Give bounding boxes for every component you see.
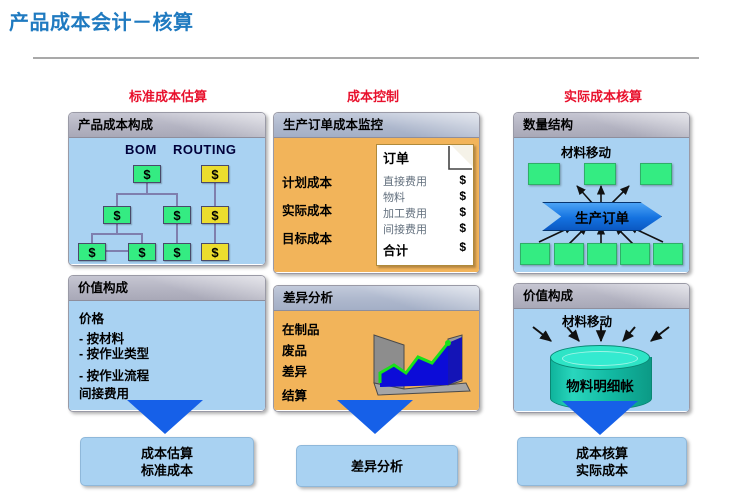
title-divider xyxy=(33,57,699,59)
material-node xyxy=(640,163,672,185)
variance-line: 结算 xyxy=(282,385,307,404)
order-amount: $ xyxy=(459,173,466,187)
material-movement-label-2: 材料移动 xyxy=(562,311,612,330)
bom-connector xyxy=(91,233,143,235)
material-node xyxy=(620,243,650,265)
cost-label-target: 目标成本 xyxy=(282,228,332,247)
panel-quantity-structure[interactable]: 数量结构 材料移动 xyxy=(513,112,690,274)
flow-arrow-1 xyxy=(127,400,203,434)
material-node xyxy=(587,243,617,265)
result-text: 成本估算 标准成本 xyxy=(141,445,193,479)
cylinder-top xyxy=(550,345,650,370)
column-header-3: 实际成本核算 xyxy=(498,88,708,106)
page-title: 产品成本会计－核算 xyxy=(9,6,194,35)
bom-label: BOM xyxy=(125,142,157,157)
area-chart-3d-icon xyxy=(370,329,476,403)
routing-connector xyxy=(214,183,216,207)
panel-header-value-structure-2: 价值构成 xyxy=(514,284,689,309)
panel-header-variance-analysis: 差异分析 xyxy=(274,286,479,311)
routing-label: ROUTING xyxy=(173,142,236,157)
value-line: - 按作业流程 xyxy=(79,365,149,384)
production-order-chevron[interactable]: 生产订单 xyxy=(542,202,662,231)
result-text: 成本核算 实际成本 xyxy=(576,445,628,479)
panel-header-value-structure-1: 价值构成 xyxy=(69,276,265,301)
bom-connector xyxy=(116,193,178,195)
material-ledger-label: 物料明细帐 xyxy=(550,375,650,395)
production-order-label: 生产订单 xyxy=(575,207,629,227)
material-movement-label-1: 材料移动 xyxy=(561,142,611,161)
panel-body-product-cost-structure: BOM ROUTING $ $ $ $ $ $ $ $ xyxy=(69,138,265,264)
value-line: - 按作业类型 xyxy=(79,343,149,362)
variance-line: 差异 xyxy=(282,361,307,380)
column-header-1: 标准成本估算 xyxy=(63,88,273,106)
bom-node: $ xyxy=(163,206,191,224)
order-document-title: 订单 xyxy=(383,148,409,167)
order-amount-total: $ xyxy=(459,240,466,254)
bom-node: $ xyxy=(103,206,131,224)
flow-arrow-2 xyxy=(337,400,413,434)
order-document[interactable]: 订单 直接费用 物料 加工费用 间接费用 合计 $ $ $ $ $ xyxy=(376,144,474,266)
result-box-actual-costing[interactable]: 成本核算 实际成本 xyxy=(517,437,687,486)
routing-connector xyxy=(214,224,216,244)
order-row-label: 加工费用 xyxy=(383,205,427,221)
panel-header-quantity-structure: 数量结构 xyxy=(514,113,689,138)
order-amount: $ xyxy=(459,221,466,235)
variance-line: 废品 xyxy=(282,340,307,359)
order-amount: $ xyxy=(459,189,466,203)
slide-canvas: 产品成本会计－核算 标准成本估算 产品成本构成 BOM ROUTING $ xyxy=(0,0,736,497)
material-node xyxy=(653,243,683,265)
material-node xyxy=(520,243,550,265)
order-row-label: 物料 xyxy=(383,189,405,205)
cost-label-actual: 实际成本 xyxy=(282,200,332,219)
order-row-label: 间接费用 xyxy=(383,221,427,237)
order-total-label: 合计 xyxy=(383,240,408,259)
panel-body-value-structure-2: 材料移动 物料明细帐 xyxy=(514,309,689,411)
value-line: 间接费用 xyxy=(79,383,129,402)
value-line: 价格 xyxy=(79,308,104,327)
column-standard-cost-estimate: 标准成本估算 xyxy=(63,88,273,106)
column-cost-control: 成本控制 xyxy=(268,88,478,106)
panel-variance-analysis[interactable]: 差异分析 在制品 废品 差异 结算 xyxy=(273,285,480,412)
variance-line: 在制品 xyxy=(282,319,320,338)
bom-node: $ xyxy=(128,243,156,261)
panel-body-production-order-cost-monitor: 计划成本 实际成本 目标成本 订单 直接费用 物料 加工费用 间接费用 合计 $… xyxy=(274,138,479,272)
order-amount: $ xyxy=(459,205,466,219)
page-fold-icon xyxy=(451,145,473,167)
panel-value-structure-2[interactable]: 价值构成 材料移动 物料明细帐 xyxy=(513,283,690,413)
bom-connector xyxy=(141,233,143,243)
material-node xyxy=(584,163,616,185)
routing-node: $ xyxy=(201,206,229,224)
panel-header-production-order-cost-monitor: 生产订单成本监控 xyxy=(274,113,479,138)
cylinder-top-inner-ring xyxy=(562,351,638,366)
panel-body-variance-analysis: 在制品 废品 差异 结算 xyxy=(274,311,479,410)
column-actual-costing: 实际成本核算 xyxy=(498,88,708,106)
bom-connector xyxy=(116,193,118,206)
panel-production-order-cost-monitor[interactable]: 生产订单成本监控 计划成本 实际成本 目标成本 订单 直接费用 物料 加工费用 … xyxy=(273,112,480,274)
panel-value-structure-1[interactable]: 价值构成 价格 - 按材料 - 按作业类型 - 按作业流程 间接费用 xyxy=(68,275,266,412)
material-node xyxy=(528,163,560,185)
material-ledger-cylinder: 物料明细帐 xyxy=(550,345,650,409)
column-header-2: 成本控制 xyxy=(268,88,478,106)
flow-arrow-3 xyxy=(562,401,638,435)
routing-node: $ xyxy=(201,243,229,261)
cost-label-planned: 计划成本 xyxy=(282,172,332,191)
result-text: 差异分析 xyxy=(351,458,403,475)
panel-header-product-cost-structure: 产品成本构成 xyxy=(69,113,265,138)
bom-connector xyxy=(176,224,178,243)
result-box-variance-analysis[interactable]: 差异分析 xyxy=(296,445,458,487)
panel-body-value-structure-1: 价格 - 按材料 - 按作业类型 - 按作业流程 间接费用 xyxy=(69,301,265,410)
material-node xyxy=(554,243,584,265)
result-box-cost-estimate[interactable]: 成本估算 标准成本 xyxy=(80,437,254,486)
bom-node: $ xyxy=(133,165,161,183)
bom-node: $ xyxy=(163,243,191,261)
panel-product-cost-structure[interactable]: 产品成本构成 BOM ROUTING $ $ $ $ $ $ xyxy=(68,112,266,266)
bom-node: $ xyxy=(78,243,106,261)
routing-node: $ xyxy=(201,165,229,183)
bom-connector xyxy=(176,193,178,206)
bom-connector xyxy=(91,233,93,243)
order-row-label: 直接费用 xyxy=(383,173,427,189)
panel-body-quantity-structure: 材料移动 xyxy=(514,138,689,272)
